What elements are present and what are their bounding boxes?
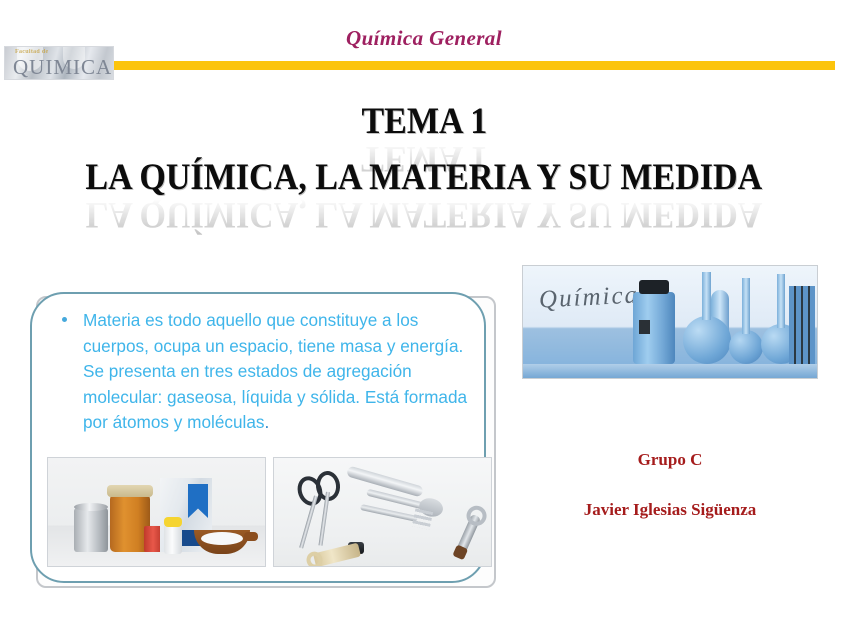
bullet-paragraph: Materia es todo aquello que constituye a… (83, 308, 472, 436)
test-tubes-shape (789, 286, 815, 364)
metal-can-shape (74, 508, 108, 552)
round-flask-shape (729, 330, 763, 364)
author-name: Javier Iglesias Sigüenza (522, 500, 818, 520)
yellow-cap-jar-shape (164, 524, 182, 554)
laboratory-glassware-photo: Química (522, 265, 818, 379)
pantry-items-photo (47, 457, 266, 567)
page-title-line2: LA QUÍMICA, LA MATERIA Y SU MEDIDA LA QU… (0, 156, 848, 236)
content-box: Materia es todo aquello que constituye a… (30, 292, 486, 583)
group-label: Grupo C (522, 450, 818, 470)
title-line1-text: TEMA 1 (361, 100, 487, 143)
bullet-paragraph-text: Materia es todo aquello que constituye a… (83, 310, 467, 432)
logo-main-text: QUIMICA (13, 55, 112, 80)
slide-root: Química General Facultad de QUIMICA TEMA… (0, 0, 848, 636)
title-line2-text: LA QUÍMICA, LA MATERIA Y SU MEDIDA (86, 156, 763, 199)
reagent-bottle-shape (633, 292, 675, 364)
round-flask-shape (683, 316, 731, 364)
bullet-item: Materia es todo aquello que constituye a… (62, 308, 472, 436)
quimica-script-text: Química (538, 281, 639, 314)
course-title: Química General (0, 26, 848, 51)
header-gold-bar (112, 61, 835, 70)
bullet-paragraph-period: . (265, 412, 270, 432)
metal-objects-photo (273, 457, 492, 567)
photo-floor-gradient (523, 364, 817, 378)
bullet-dot-icon (62, 317, 67, 322)
faculty-logo: Facultad de QUIMICA (4, 46, 114, 80)
title-line2-reflection: LA QUÍMICA, LA MATERIA Y SU MEDIDA (34, 193, 814, 236)
